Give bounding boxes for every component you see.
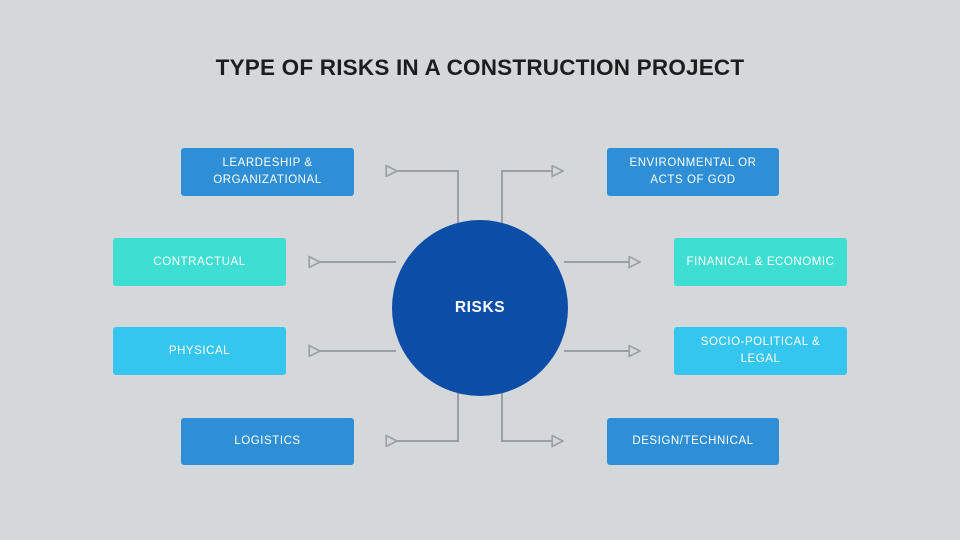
risk-box-socio-political-legal[interactable]: SOCIO-POLITICAL & LEGAL — [674, 327, 847, 375]
risk-box-contractual[interactable]: CONTRACTUAL — [113, 238, 286, 286]
risk-box-finanical-economic[interactable]: FINANICAL & ECONOMIC — [674, 238, 847, 286]
hub-label: RISKS — [455, 299, 505, 317]
risk-box-leardeship-organizational[interactable]: LEARDESHIP & ORGANIZATIONAL — [181, 148, 354, 196]
risk-box-logistics[interactable]: LOGISTICS — [181, 418, 354, 465]
diagram-canvas: TYPE OF RISKS IN A CONSTRUCTION PROJECT — [0, 0, 960, 540]
risk-box-design-technical[interactable]: DESIGN/TECHNICAL — [607, 418, 779, 465]
risk-box-environmental-acts-of-god[interactable]: ENVIRONMENTAL OR ACTS OF GOD — [607, 148, 779, 196]
risk-box-physical[interactable]: PHYSICAL — [113, 327, 286, 375]
center-hub-risks[interactable]: RISKS — [392, 220, 568, 396]
